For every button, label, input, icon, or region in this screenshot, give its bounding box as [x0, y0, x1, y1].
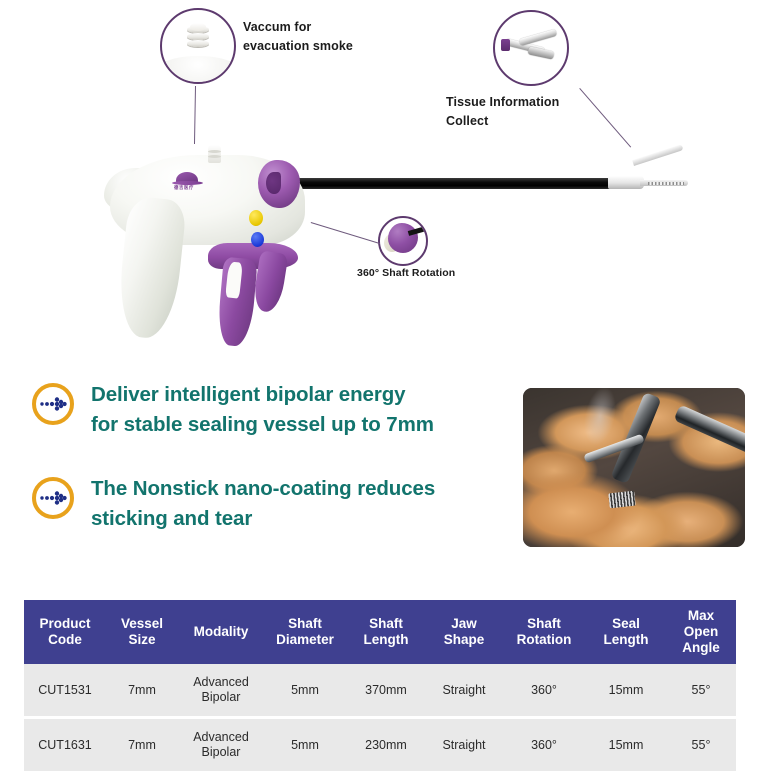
device-jaw-upper: [632, 144, 683, 166]
column-header-shaft-length: Shaft Length: [346, 600, 426, 664]
table-row: CUT1631 7mm Advanced Bipolar 5mm 230mm S…: [24, 718, 736, 772]
column-header-vessel-size: Vessel Size: [106, 600, 178, 664]
column-header-product-code: Product Code: [24, 600, 106, 664]
cell-shaft-length: 370mm: [346, 664, 426, 718]
specification-table: Product Code Vessel Size Modality Shaft …: [24, 600, 736, 771]
cell-jaw-shape: Straight: [426, 718, 502, 772]
column-header-jaw-shape: Jaw Shape: [426, 600, 502, 664]
cell-seal-length: 15mm: [586, 664, 666, 718]
column-header-shaft-rotation: Shaft Rotation: [502, 600, 586, 664]
feature-item-2: The Nonstick nano-coating reduces sticki…: [0, 474, 510, 534]
cell-vessel-size: 7mm: [106, 718, 178, 772]
cell-vessel-size: 7mm: [106, 664, 178, 718]
cell-shaft-rotation: 360°: [502, 664, 586, 718]
cell-modality: Advanced Bipolar: [178, 718, 264, 772]
feature-text-2: The Nonstick nano-coating reduces sticki…: [91, 474, 435, 534]
cell-seal-length: 15mm: [586, 718, 666, 772]
cell-max-open-angle: 55°: [666, 664, 736, 718]
feature-item-1: Deliver intelligent bipolar energy for s…: [0, 380, 510, 440]
device-shaft: [293, 178, 613, 189]
tissue-sealing-photo: [523, 388, 745, 547]
device-brand-logo-text: 德吉医疗: [174, 185, 194, 191]
feature-text-1: Deliver intelligent bipolar energy for s…: [91, 380, 434, 440]
cell-jaw-shape: Straight: [426, 664, 502, 718]
column-header-modality: Modality: [178, 600, 264, 664]
photo-surgical-clip: [608, 491, 635, 509]
column-header-shaft-diameter: Shaft Diameter: [264, 600, 346, 664]
arrow-bullet-icon: [31, 382, 75, 426]
device-button-yellow: [249, 210, 263, 226]
table-header-row: Product Code Vessel Size Modality Shaft …: [24, 600, 736, 664]
cell-product-code: CUT1631: [24, 718, 106, 772]
cell-shaft-diameter: 5mm: [264, 664, 346, 718]
feature-2-line2: sticking and tear: [91, 504, 435, 534]
cell-shaft-diameter: 5mm: [264, 718, 346, 772]
feature-2-line1: The Nonstick nano-coating reduces: [91, 474, 435, 504]
cell-product-code: CUT1531: [24, 664, 106, 718]
feature-1-line2: for stable sealing vessel up to 7mm: [91, 410, 434, 440]
cell-modality: Advanced Bipolar: [178, 664, 264, 718]
photo-tissue-background: [523, 388, 745, 547]
cell-shaft-length: 230mm: [346, 718, 426, 772]
feature-list: Deliver intelligent bipolar energy for s…: [0, 380, 510, 568]
column-header-seal-length: Seal Length: [586, 600, 666, 664]
device-tip-body: [608, 176, 644, 189]
cell-shaft-rotation: 360°: [502, 718, 586, 772]
device-graphic: 德吉医疗: [0, 0, 763, 370]
column-header-max-open-angle: Max Open Angle: [666, 600, 736, 664]
arrow-bullet-icon: [31, 476, 75, 520]
device-button-blue: [251, 232, 264, 247]
product-illustration: Vaccum for evacuation smoke Tissue Infor…: [0, 0, 763, 370]
device-brand-logo: 德吉医疗: [172, 172, 206, 192]
feature-1-line1: Deliver intelligent bipolar energy: [91, 380, 434, 410]
cell-max-open-angle: 55°: [666, 718, 736, 772]
device-vacuum-port: [208, 145, 221, 163]
table-row: CUT1531 7mm Advanced Bipolar 5mm 370mm S…: [24, 664, 736, 718]
device-jaw-teeth: [648, 182, 684, 185]
